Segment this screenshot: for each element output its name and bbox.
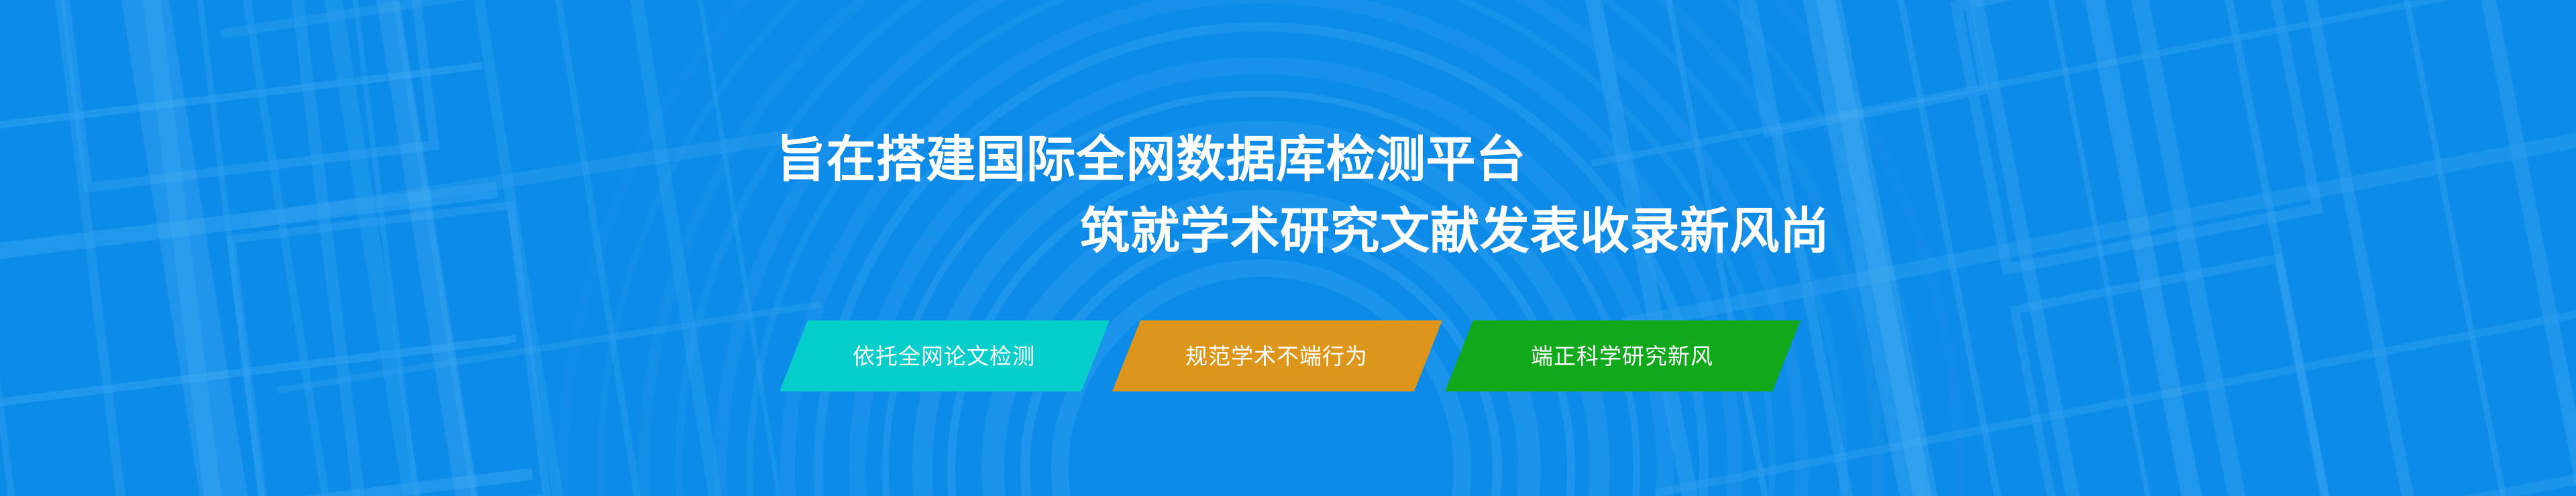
feature-badge-academic-misconduct[interactable]: 规范学术不端行为 xyxy=(1112,320,1442,391)
feature-badge-label: 端正科学研究新风 xyxy=(1531,345,1713,367)
hero-banner: 旨在搭建国际全网数据库检测平台 筑就学术研究文献发表收录新风尚 依托全网论文检测… xyxy=(0,0,2576,496)
feature-badge-research-ethics[interactable]: 端正科学研究新风 xyxy=(1445,320,1801,391)
headline-group: 旨在搭建国际全网数据库检测平台 筑就学术研究文献发表收录新风尚 xyxy=(0,0,2576,496)
headline-line-2: 筑就学术研究文献发表收录新风尚 xyxy=(1080,203,1830,259)
feature-badge-label: 依托全网论文检测 xyxy=(853,345,1035,367)
feature-badge-plagiarism-detection[interactable]: 依托全网论文检测 xyxy=(780,320,1110,391)
feature-badge-label: 规范学术不端行为 xyxy=(1185,345,1368,367)
feature-badge-row: 依托全网论文检测 规范学术不端行为 端正科学研究新风 xyxy=(771,320,1818,391)
headline-line-1: 旨在搭建国际全网数据库检测平台 xyxy=(776,131,1526,188)
